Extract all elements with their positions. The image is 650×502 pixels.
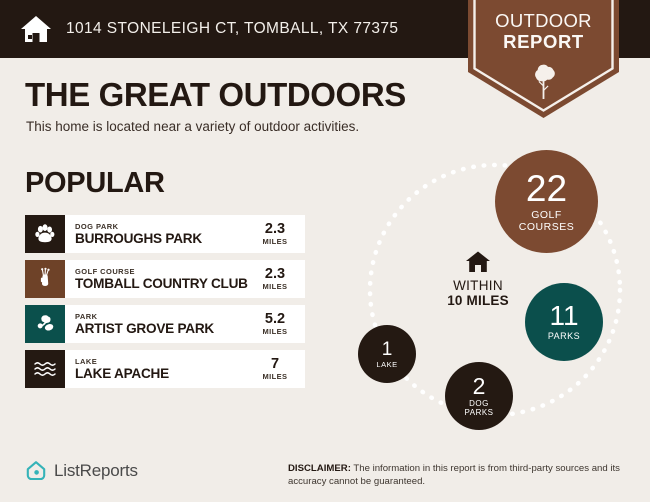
popular-list: DOG PARK BURROUGHS PARK 2.3 MILES	[25, 215, 305, 395]
list-item-category: GOLF COURSE	[75, 267, 251, 276]
diagram-center-label: WITHIN 10 MILES	[418, 250, 538, 309]
outdoor-report-badge: OUTDOOR REPORT	[468, 0, 619, 118]
bubble-dog-parks[interactable]: 2 DOG PARKS	[445, 362, 513, 430]
list-item-category: LAKE	[75, 357, 251, 366]
list-item-distance: 5.2 MILES	[251, 305, 305, 343]
list-item[interactable]: DOG PARK BURROUGHS PARK 2.3 MILES	[25, 215, 305, 253]
water-waves-icon	[25, 350, 65, 388]
property-address: 1014 STONELEIGH CT, TOMBALL, TX 77375	[66, 20, 398, 38]
center-line-1: WITHIN	[418, 278, 538, 293]
bubble-lake[interactable]: 1 LAKE	[358, 325, 416, 383]
bubble-count: 22	[526, 170, 567, 207]
bubble-label-line-2: PARKS	[464, 409, 493, 417]
golf-bag-icon	[25, 260, 65, 298]
distance-unit: MILES	[263, 237, 288, 247]
bubble-label: LAKE	[376, 361, 397, 369]
distance-value: 5.2	[265, 312, 285, 327]
bubble-label-line-2: COURSES	[519, 222, 574, 233]
badge-line-2: REPORT	[468, 31, 619, 52]
list-item-category: DOG PARK	[75, 222, 251, 231]
listreports-house-logo-icon	[25, 460, 47, 482]
list-item[interactable]: PARK ARTIST GROVE PARK 5.2 MILES	[25, 305, 305, 343]
list-item-body: DOG PARK BURROUGHS PARK	[65, 215, 251, 253]
distance-unit: MILES	[263, 327, 288, 337]
page-subtitle: This home is located near a variety of o…	[26, 119, 359, 134]
bubble-count: 11	[549, 302, 578, 330]
bubble-label-line-1: GOLF	[519, 210, 574, 221]
infographic-page: 1014 STONELEIGH CT, TOMBALL, TX 77375 OU…	[0, 0, 650, 502]
badge-line-1: OUTDOOR	[468, 10, 619, 31]
bubble-count: 1	[382, 340, 393, 359]
paw-print-icon	[25, 215, 65, 253]
bubble-label: GOLF COURSES	[519, 210, 574, 232]
home-icon	[20, 14, 52, 44]
badge-text: OUTDOOR REPORT	[468, 10, 619, 52]
list-item-name: BURROUGHS PARK	[75, 231, 251, 247]
list-item-name: ARTIST GROVE PARK	[75, 321, 251, 337]
bubble-label: PARKS	[548, 332, 580, 341]
list-item-category: PARK	[75, 312, 251, 321]
amenities-bubble-diagram: 22 GOLF COURSES 11 PARKS 1 LAKE 2 DOG PA…	[340, 150, 650, 430]
list-item[interactable]: GOLF COURSE TOMBALL COUNTRY CLUB 2.3 MIL…	[25, 260, 305, 298]
list-item-body: LAKE LAKE APACHE	[65, 350, 251, 388]
home-icon	[465, 250, 491, 274]
list-item-body: PARK ARTIST GROVE PARK	[65, 305, 251, 343]
listreports-logo-text: ListReports	[54, 461, 138, 481]
distance-unit: MILES	[263, 282, 288, 292]
distance-unit: MILES	[263, 372, 288, 382]
page-title: THE GREAT OUTDOORS	[25, 76, 406, 114]
list-item-distance: 2.3 MILES	[251, 260, 305, 298]
bubble-count: 2	[473, 375, 486, 398]
list-item-body: GOLF COURSE TOMBALL COUNTRY CLUB	[65, 260, 251, 298]
listreports-logo[interactable]: ListReports	[25, 460, 138, 482]
popular-heading: POPULAR	[25, 167, 165, 200]
bubble-label: DOG PARKS	[464, 400, 493, 417]
center-line-2: 10 MILES	[418, 293, 538, 309]
distance-value: 7	[271, 357, 279, 372]
list-item[interactable]: LAKE LAKE APACHE 7 MILES	[25, 350, 305, 388]
disclaimer-label: DISCLAIMER:	[288, 463, 351, 474]
list-item-name: LAKE APACHE	[75, 366, 251, 382]
bubble-golf-courses[interactable]: 22 GOLF COURSES	[495, 150, 598, 253]
list-item-distance: 2.3 MILES	[251, 215, 305, 253]
disclaimer: DISCLAIMER: The information in this repo…	[288, 463, 640, 488]
distance-value: 2.3	[265, 222, 285, 237]
list-item-distance: 7 MILES	[251, 350, 305, 388]
distance-value: 2.3	[265, 267, 285, 282]
trees-icon	[25, 305, 65, 343]
list-item-name: TOMBALL COUNTRY CLUB	[75, 276, 251, 292]
